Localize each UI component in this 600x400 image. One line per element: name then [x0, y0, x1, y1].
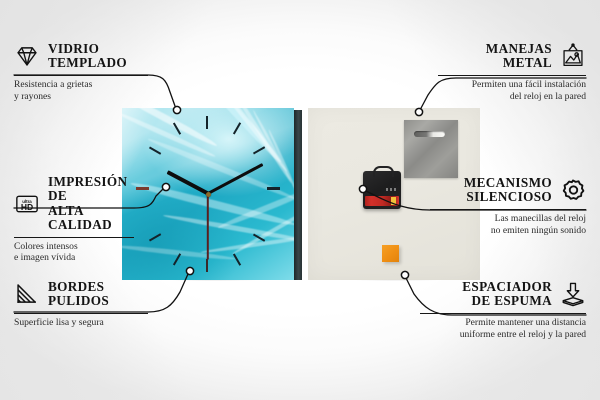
callout-mecanismo-silencioso: MECANISMO SILENCIOSO Las manecillas del … [430, 176, 586, 236]
foam-spacer-icon [560, 281, 586, 307]
clock-second-hand [207, 194, 209, 260]
clock-front-view [122, 108, 302, 280]
callout-rule [430, 209, 586, 210]
callout-manejas-metal: MANEJAS METAL Permiten una fácil instala… [438, 42, 586, 102]
callout-subtitle: Permiten una fácil instalación del reloj… [438, 79, 586, 102]
clock-tick [136, 187, 149, 190]
quartz-mechanism-box [363, 171, 401, 209]
callout-rule [14, 75, 148, 76]
callout-rule [14, 313, 148, 314]
clock-tick [206, 116, 208, 129]
clock-face [122, 108, 294, 280]
hanger-keyhole-slot [414, 131, 445, 137]
callout-title: ESPACIADOR DE ESPUMA [462, 280, 552, 309]
callout-title: BORDES PULIDOS [48, 280, 109, 309]
callout-subtitle: Resistencia a grietas y rayones [14, 79, 148, 102]
battery-compartment [365, 196, 399, 206]
callout-espaciador-de-espuma: ESPACIADOR DE ESPUMA Permite mantener un… [420, 280, 586, 340]
clock-tick [206, 259, 208, 272]
ultra-hd-icon: ultra HD [14, 191, 40, 217]
callout-subtitle: Las manecillas del reloj no emiten ningú… [430, 213, 586, 236]
callout-rule [420, 313, 586, 314]
callout-vidrio-templado: VIDRIO TEMPLADO Resistencia a grietas y … [14, 42, 148, 102]
callout-subtitle: Permite mantener una distancia uniforme … [420, 317, 586, 340]
callout-title: MECANISMO SILENCIOSO [464, 176, 552, 205]
infographic-canvas: VIDRIO TEMPLADO Resistencia a grietas y … [0, 0, 600, 400]
callout-subtitle: Superficie lisa y segura [14, 317, 148, 328]
svg-text:HD: HD [21, 202, 33, 212]
callout-rule [438, 75, 586, 76]
callout-title: VIDRIO TEMPLADO [48, 42, 127, 71]
hanging-picture-icon [560, 43, 586, 69]
polished-edge-icon [14, 281, 40, 307]
mechanism-label-marks [386, 188, 398, 191]
diamond-icon [14, 43, 40, 69]
clock-center-pin [206, 192, 211, 197]
foam-spacer-pad [382, 245, 399, 262]
gear-icon [560, 177, 586, 203]
callout-bordes-pulidos: BORDES PULIDOS Superficie lisa y segura [14, 280, 148, 329]
callout-title: MANEJAS METAL [486, 42, 552, 71]
metal-hanger-plate [404, 120, 458, 178]
clock-tick [267, 187, 280, 190]
product-images [122, 108, 480, 280]
callout-title: IMPRESIÓN DE ALTA CALIDAD [48, 175, 134, 233]
mechanism-hanging-loop [373, 166, 394, 177]
callout-subtitle: Colores intensos e imagen vívida [14, 241, 134, 264]
callout-impresion-alta-calidad: ultra HD IMPRESIÓN DE ALTA CALIDAD Color… [14, 175, 134, 264]
clock-glass-edge [294, 110, 302, 280]
callout-rule [14, 237, 134, 238]
battery-terminal [391, 197, 396, 205]
